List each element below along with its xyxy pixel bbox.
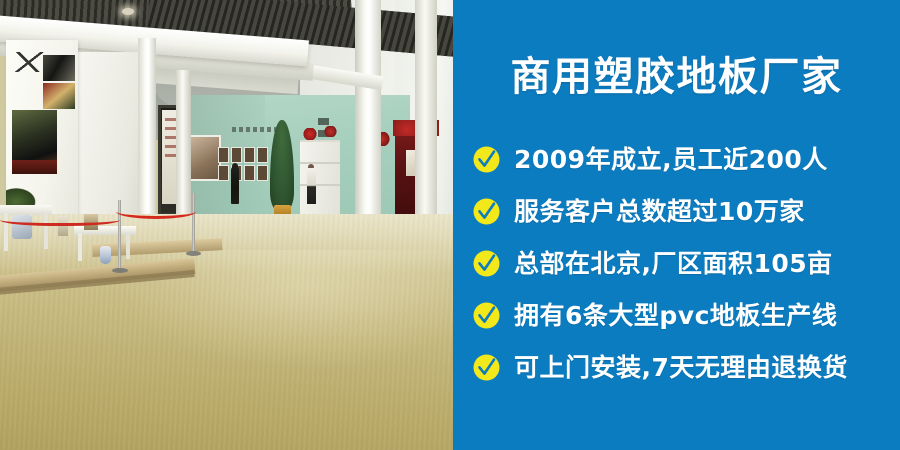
showroom-photo <box>0 0 453 450</box>
check-circle-icon <box>473 354 500 381</box>
list-item: 总部在北京,厂区面积105亩 <box>473 237 892 289</box>
table-leg <box>126 233 130 259</box>
feature-label: 拥有6条大型pvc地板生产线 <box>514 303 837 328</box>
wall-frame <box>244 165 255 181</box>
feature-list: 2009年成立,员工近200人 服务客户总数超过10万家 <box>473 133 892 393</box>
table-leg <box>78 233 82 261</box>
rope-stanchion <box>192 193 195 255</box>
check-circle-icon <box>473 146 500 173</box>
visitor-white-clothing <box>307 168 316 204</box>
check-circle-icon <box>473 250 500 277</box>
wall-title-lettering <box>232 127 278 132</box>
feature-label: 可上门安装,7天无理由退换货 <box>514 355 848 380</box>
wall-frame <box>257 165 268 181</box>
feature-label: 总部在北京,厂区面积105亩 <box>514 251 833 276</box>
list-item: 2009年成立,员工近200人 <box>473 133 892 185</box>
wall-artwork-large <box>189 135 221 181</box>
poster-photo <box>43 55 75 81</box>
visitor-dark-clothing <box>231 166 239 204</box>
feature-label: 2009年成立,员工近200人 <box>514 147 828 172</box>
wall-frame <box>244 147 255 163</box>
stanchion-base <box>186 251 201 256</box>
poster-photo <box>43 83 75 109</box>
red-flower-display <box>303 128 317 140</box>
red-flower-display <box>324 126 337 137</box>
wall-frame <box>218 147 229 163</box>
floor-texture <box>0 214 453 450</box>
red-barrier-rope <box>116 204 196 219</box>
stanchion-base <box>112 268 128 273</box>
promo-banner: 商用塑胶地板厂家 2009年成立,员工近200人 <box>0 0 900 450</box>
page-title: 商用塑胶地板厂家 <box>453 54 900 100</box>
shelf-line <box>300 162 340 164</box>
feature-label: 服务客户总数超过10万家 <box>514 199 805 224</box>
wall-frame <box>231 147 242 163</box>
poster-photo-base <box>12 160 57 174</box>
check-circle-icon <box>473 198 500 225</box>
info-panel: 商用塑胶地板厂家 2009年成立,员工近200人 <box>453 0 900 450</box>
blue-vase <box>100 246 111 264</box>
display-shelf <box>300 140 340 217</box>
shelf-line <box>300 184 340 186</box>
wall-frame <box>218 165 229 181</box>
list-item: 服务客户总数超过10万家 <box>473 185 892 237</box>
list-item: 可上门安装,7天无理由退换货 <box>473 341 892 393</box>
ceiling-lamp-icon <box>122 8 134 15</box>
wall-frame <box>257 147 268 163</box>
check-circle-icon <box>473 302 500 329</box>
poster-calligraphy <box>14 52 44 72</box>
list-item: 拥有6条大型pvc地板生产线 <box>473 289 892 341</box>
red-barrier-rope <box>0 213 120 226</box>
